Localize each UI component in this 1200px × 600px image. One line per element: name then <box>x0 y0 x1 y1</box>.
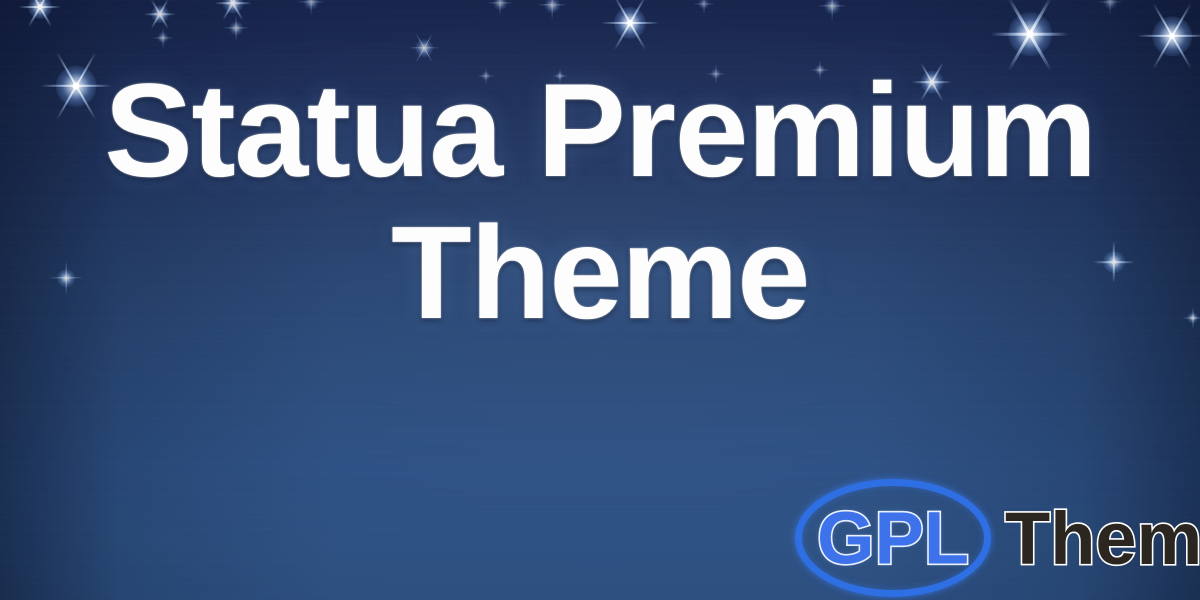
star-core <box>423 47 426 50</box>
star-glow <box>304 0 319 9</box>
headline-line-1: Statua Premium <box>0 68 1200 196</box>
star-ray <box>1097 1 1123 2</box>
star-ray <box>703 0 704 15</box>
star-glow <box>1008 12 1052 56</box>
star-core <box>159 13 162 16</box>
star-ray <box>310 0 311 16</box>
star-core <box>703 3 705 5</box>
star-sparkle-icon <box>537 0 567 20</box>
star-glow <box>151 5 169 23</box>
star-sparkle-icon <box>693 0 715 15</box>
star-ray <box>28 0 53 27</box>
theme-banner: Statua Premium Theme GPL Them <box>0 0 1200 600</box>
star-glow <box>157 32 168 43</box>
star-core <box>310 1 312 3</box>
star-ray <box>235 15 236 41</box>
gpl-badge-label: GPL <box>795 496 991 581</box>
star-glow <box>544 0 560 13</box>
star-core <box>162 37 164 39</box>
star-glow <box>493 0 507 10</box>
star-glow <box>28 0 52 19</box>
star-glow <box>1103 0 1117 9</box>
star-ray <box>499 0 500 16</box>
star-glow <box>1152 16 1192 56</box>
star-core <box>1027 31 1034 38</box>
star-sparkle-icon <box>223 15 249 41</box>
star-ray <box>223 27 249 28</box>
star-ray <box>991 33 1068 36</box>
star-ray <box>19 6 61 8</box>
star-sparkle-icon <box>143 0 177 31</box>
star-sparkle-icon <box>599 0 661 54</box>
star-sparkle-icon <box>213 0 253 23</box>
star-sparkle-icon <box>487 0 513 16</box>
star-ray <box>152 37 174 38</box>
star-ray <box>28 0 53 27</box>
watermark-word-label: Them <box>1005 496 1200 581</box>
star-ray <box>222 0 243 21</box>
star-sparkle-icon <box>1134 0 1200 74</box>
star-ray <box>614 0 647 50</box>
star-ray <box>144 13 175 15</box>
star-ray <box>487 2 513 3</box>
star-glow <box>415 39 433 57</box>
star-sparkle-icon <box>817 0 847 21</box>
star-sparkle-icon <box>1097 0 1123 15</box>
star-glow <box>614 7 646 39</box>
star-ray <box>693 3 715 4</box>
star-ray <box>537 4 567 5</box>
star-sparkle-icon <box>17 0 63 30</box>
star-ray <box>151 0 169 29</box>
headline-line-2: Theme <box>0 210 1200 337</box>
star-ray <box>614 0 647 50</box>
star-ray <box>601 22 658 24</box>
star-core <box>1109 1 1111 3</box>
star-ray <box>1137 35 1200 37</box>
star-glow <box>229 21 243 35</box>
star-glow <box>698 0 709 10</box>
star-ray <box>162 27 163 49</box>
star-sparkle-icon <box>297 0 325 16</box>
star-ray <box>215 2 252 4</box>
star-core <box>1169 33 1175 39</box>
star-ray <box>1109 0 1110 15</box>
star-ray <box>1152 3 1192 70</box>
star-ray <box>1152 3 1192 70</box>
star-core <box>235 27 237 29</box>
star-core <box>627 20 633 26</box>
star-ray <box>831 0 832 21</box>
gplthemes-watermark-logo: GPL Them <box>795 468 1200 600</box>
star-glow <box>223 0 244 13</box>
star-ray <box>551 0 552 20</box>
star-ray <box>222 0 243 21</box>
gpl-badge: GPL <box>795 479 991 597</box>
star-core <box>38 5 43 10</box>
star-ray <box>297 1 325 2</box>
star-ray <box>408 47 439 48</box>
star-glow <box>824 0 840 14</box>
banner-headline: Statua Premium Theme <box>0 68 1200 336</box>
star-core <box>499 2 501 4</box>
star-core <box>231 1 235 5</box>
star-core <box>551 4 554 7</box>
star-ray <box>817 5 847 6</box>
star-sparkle-icon <box>152 27 174 49</box>
star-core <box>831 5 834 8</box>
star-ray <box>151 0 169 29</box>
